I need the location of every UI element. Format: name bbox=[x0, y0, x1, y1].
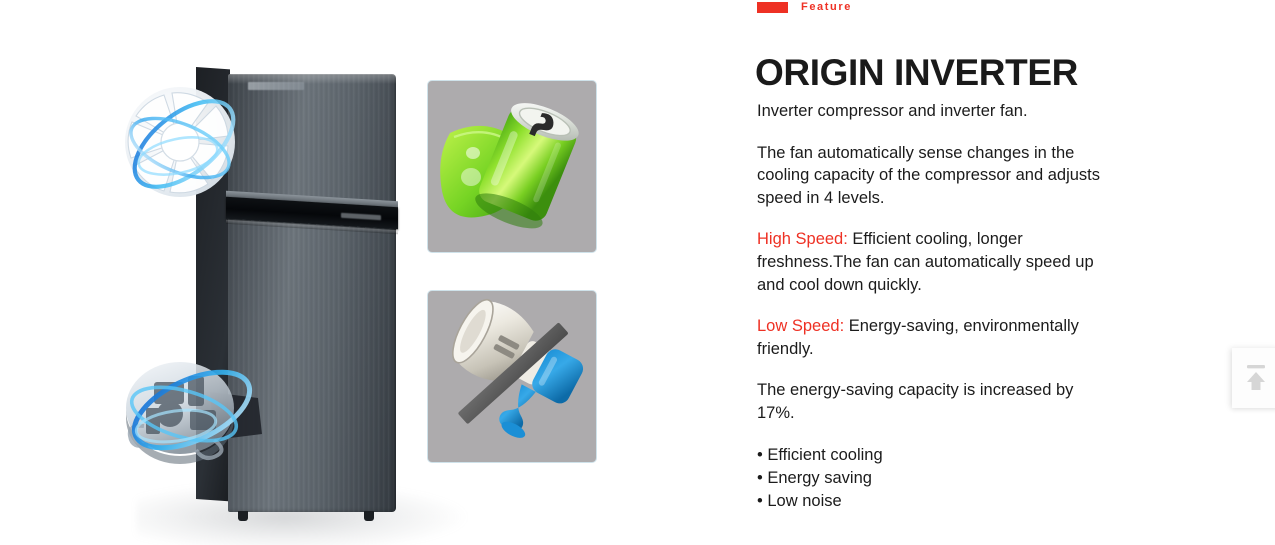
inverter-compressor-icon bbox=[118, 348, 278, 468]
paragraph-energy-saving: The energy-saving capacity is increased … bbox=[757, 379, 1109, 424]
refrigerator-foot-right bbox=[364, 511, 374, 521]
feature-text-panel: Feature ORIGIN INVERTER Inverter compres… bbox=[757, 0, 1117, 545]
inverter-fan-icon bbox=[120, 84, 246, 210]
scroll-to-top-button[interactable] bbox=[1232, 348, 1275, 408]
feature-bullet-list: • Efficient cooling • Energy saving • Lo… bbox=[757, 444, 1109, 513]
list-item: • Efficient cooling bbox=[757, 444, 1109, 467]
scroll-to-top-icon bbox=[1243, 363, 1269, 393]
high-speed-label: High Speed: bbox=[757, 230, 848, 248]
energy-saving-battery-leaf-icon bbox=[428, 81, 596, 252]
paragraph-low-speed: Low Speed: Energy-saving, environmentall… bbox=[757, 315, 1109, 360]
paragraph-high-speed: High Speed: Efficient cooling, longer fr… bbox=[757, 228, 1109, 296]
eyebrow-bar bbox=[757, 2, 788, 13]
product-visual-panel bbox=[0, 0, 745, 545]
list-item: • Energy saving bbox=[757, 467, 1109, 490]
feature-tile-energy-saving bbox=[427, 80, 597, 253]
paragraph-fan-behavior: The fan automatically sense changes in t… bbox=[757, 142, 1109, 210]
refrigerator-foot-left bbox=[238, 511, 248, 521]
feature-tile-low-noise bbox=[427, 290, 597, 463]
feature-page: Feature ORIGIN INVERTER Inverter compres… bbox=[0, 0, 1275, 545]
toshiba-brand-logo bbox=[248, 82, 304, 90]
list-item: • Low noise bbox=[757, 490, 1109, 513]
eyebrow: Feature bbox=[757, 2, 852, 13]
no-noise-megaphone-icon bbox=[428, 291, 596, 462]
low-speed-label: Low Speed: bbox=[757, 317, 844, 335]
eyebrow-label: Feature bbox=[801, 2, 852, 13]
paragraph-intro: Inverter compressor and inverter fan. bbox=[757, 100, 1109, 123]
feature-body: Inverter compressor and inverter fan. Th… bbox=[757, 100, 1109, 513]
page-title: ORIGIN INVERTER bbox=[755, 51, 1078, 95]
